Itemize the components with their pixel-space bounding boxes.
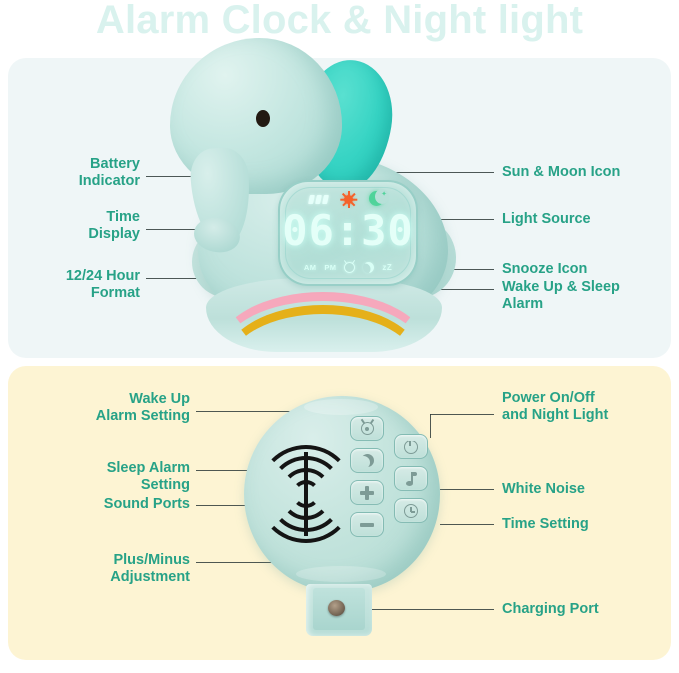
battery-icon bbox=[309, 195, 328, 204]
snooze-zz-icon: zZ bbox=[382, 263, 392, 272]
label-wakeup-alarm-setting: Wake Up Alarm Setting bbox=[40, 391, 190, 425]
alarm-bell-icon bbox=[344, 262, 355, 273]
label-time-display: Time Display bbox=[30, 209, 140, 243]
elephant-night-light-front: ✦ 06:30 AM PM zZ bbox=[170, 30, 470, 360]
white-noise-button[interactable] bbox=[394, 466, 428, 491]
sound-ports-grille bbox=[258, 446, 354, 542]
shell-notch-top bbox=[304, 399, 378, 415]
label-hour-format: 12/24 Hour Format bbox=[20, 268, 140, 302]
device-stand bbox=[306, 584, 372, 636]
music-note-glyph-icon bbox=[405, 472, 417, 486]
label-sleep-alarm-setting: Sleep Alarm Setting bbox=[40, 460, 190, 494]
time-setting-button[interactable] bbox=[394, 498, 428, 523]
leader-line-white-noise bbox=[440, 489, 494, 490]
moon-glyph-icon bbox=[361, 454, 374, 467]
plus-glyph-icon bbox=[360, 486, 374, 500]
sleep-alarm-button[interactable] bbox=[350, 448, 384, 473]
minus-button[interactable] bbox=[350, 512, 384, 537]
label-battery-indicator: Battery Indicator bbox=[30, 156, 140, 190]
label-sun-moon-icon: Sun & Moon Icon bbox=[502, 164, 662, 181]
shell-notch-bottom bbox=[296, 566, 386, 582]
lcd-time-value: 06:30 bbox=[280, 206, 416, 255]
lcd-clock-face: ✦ 06:30 AM PM zZ bbox=[278, 180, 418, 286]
wake-up-alarm-button[interactable] bbox=[350, 416, 384, 441]
power-glyph-icon bbox=[404, 440, 418, 454]
lcd-status-row: ✦ bbox=[280, 191, 416, 207]
charging-port-connector bbox=[328, 600, 345, 616]
lcd-indicator-row: AM PM zZ bbox=[280, 262, 416, 273]
alarm-glyph-icon bbox=[361, 422, 374, 435]
minus-glyph-icon bbox=[360, 523, 374, 527]
device-back-view bbox=[244, 396, 440, 646]
page-title: Alarm Clock & Night light bbox=[0, 0, 679, 43]
lcd-pm-label: PM bbox=[324, 263, 336, 272]
sleepy-moon-icon: ✦ bbox=[369, 191, 387, 207]
elephant-eye bbox=[256, 110, 270, 127]
sun-icon bbox=[341, 192, 356, 207]
label-plus-minus-adjustment: Plus/Minus Adjustment bbox=[40, 552, 190, 586]
label-power-night-light: Power On/Off and Night Light bbox=[502, 390, 670, 424]
label-light-source: Light Source bbox=[502, 211, 662, 228]
lcd-am-label: AM bbox=[304, 263, 316, 272]
plus-button[interactable] bbox=[350, 480, 384, 505]
clock-glyph-icon bbox=[404, 504, 418, 518]
label-sound-ports: Sound Ports bbox=[40, 496, 190, 513]
power-button[interactable] bbox=[394, 434, 428, 459]
label-white-noise: White Noise bbox=[502, 481, 670, 498]
grille-center-bar bbox=[304, 452, 308, 536]
label-time-setting: Time Setting bbox=[502, 516, 670, 533]
crescent-moon-icon bbox=[363, 262, 374, 273]
label-charging-port: Charging Port bbox=[502, 601, 670, 618]
leader-line-time-setting bbox=[440, 524, 494, 525]
label-snooze-icon: Snooze Icon bbox=[502, 261, 662, 278]
label-wakeup-sleep-alarm: Wake Up & Sleep Alarm bbox=[502, 279, 666, 313]
